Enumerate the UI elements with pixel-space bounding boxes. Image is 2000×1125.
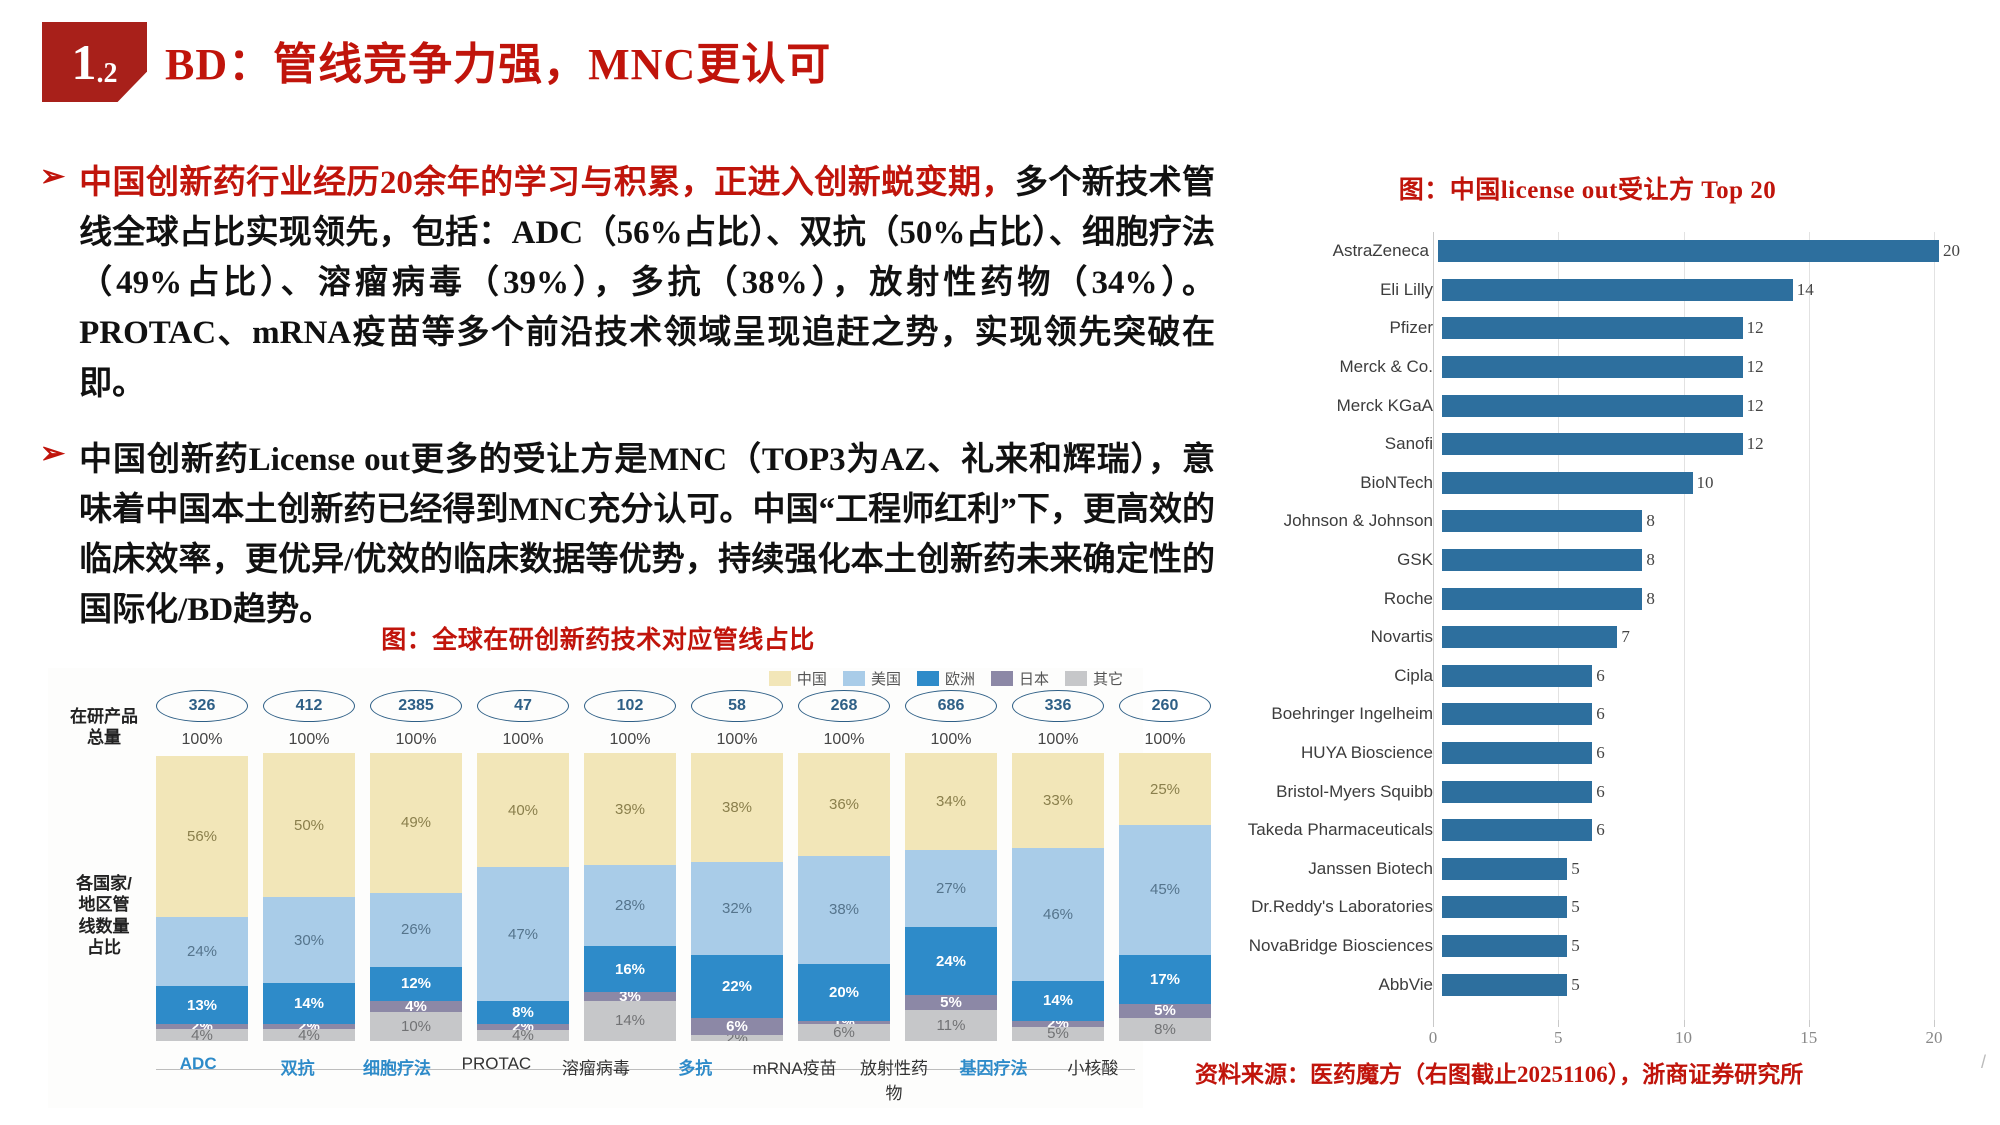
category-label: 多抗 xyxy=(653,1054,737,1104)
slide-header: 1 .2 BD：管线竞争力强，MNC更认可 xyxy=(0,22,2000,102)
legend-swatch xyxy=(769,671,791,686)
hbar-category-label: Eli Lilly xyxy=(1215,280,1442,300)
stack: 50%30%14%2%4% xyxy=(263,753,355,1041)
stack-segment: 5% xyxy=(1012,1027,1104,1041)
hbar-track: 12 xyxy=(1442,309,1960,348)
stack-segment: 4% xyxy=(370,1001,462,1012)
pipeline-total-badge: 260 xyxy=(1119,690,1211,722)
hbar-value-label: 7 xyxy=(1617,627,1630,647)
stack-segment: 25% xyxy=(1119,753,1211,825)
x-tick-label: 15 xyxy=(1800,1028,1817,1048)
hbar-row[interactable]: Eli Lilly14 xyxy=(1215,271,1960,310)
stack-total-percent: 100% xyxy=(610,731,651,749)
bullet-arrow-icon: ➢ xyxy=(40,158,65,195)
hbar-bar xyxy=(1442,819,1592,841)
category-label: 溶瘤病毒 xyxy=(554,1054,638,1104)
hbar-category-label: AbbVie xyxy=(1215,975,1442,995)
hbar-bar xyxy=(1442,974,1567,996)
hbar-value-label: 5 xyxy=(1567,897,1580,917)
hbar-bar xyxy=(1442,626,1617,648)
x-tick-label: 10 xyxy=(1675,1028,1692,1048)
legend-label: 欧洲 xyxy=(945,668,975,689)
stack-segment: 45% xyxy=(1119,825,1211,955)
stacked-bar-column: 47100%40%47%8%2%4% xyxy=(477,690,569,1108)
hbar-track: 5 xyxy=(1442,965,1960,1004)
x-tick-mark xyxy=(1558,1020,1559,1027)
hbar-bar xyxy=(1442,317,1743,339)
hbar-track: 12 xyxy=(1442,386,1960,425)
stack-segment: 6% xyxy=(691,1018,783,1035)
x-tick-label: 20 xyxy=(1926,1028,1943,1048)
stack-segment: 47% xyxy=(477,867,569,1001)
stack-segment: 8% xyxy=(1119,1018,1211,1041)
stack-segment: 17% xyxy=(1119,955,1211,1004)
x-tick-mark xyxy=(1934,1020,1935,1027)
legend-item: 美国 xyxy=(843,668,901,689)
hbar-row[interactable]: AstraZeneca20 xyxy=(1215,232,1960,271)
stack-segment: 32% xyxy=(691,862,783,954)
stack-segment: 14% xyxy=(1012,981,1104,1021)
stacked-bar-column: 412100%50%30%14%2%4% xyxy=(263,690,355,1108)
stack-total-percent: 100% xyxy=(289,731,330,749)
hbar-bar xyxy=(1442,395,1743,417)
stack-segment: 49% xyxy=(370,753,462,893)
hbar-row[interactable]: Boehringer Ingelheim6 xyxy=(1215,695,1960,734)
stack: 56%24%13%2%4% xyxy=(156,753,248,1041)
stack-total-percent: 100% xyxy=(717,731,758,749)
bullet-highlight-text: 中国创新药行业经历20余年的学习与积累，正进入创新蜕变期， xyxy=(79,165,1015,201)
stack-segment: 46% xyxy=(1012,848,1104,980)
stack-segment: 13% xyxy=(156,986,248,1023)
stack-segment: 30% xyxy=(263,897,355,983)
stack: 34%27%24%5%11% xyxy=(905,753,997,1041)
hbar-row[interactable]: Pfizer12 xyxy=(1215,309,1960,348)
stack-segment: 34% xyxy=(905,753,997,850)
hbar-row[interactable]: BioNTech10 xyxy=(1215,464,1960,503)
stacked-bar-column: 686100%34%27%24%5%11% xyxy=(905,690,997,1108)
stack-segment: 5% xyxy=(1119,1004,1211,1018)
bullet-body-text: 中国创新药License out更多的受让方是MNC（TOP3为AZ、礼来和辉瑞… xyxy=(79,442,1215,628)
y-axis-line xyxy=(1433,232,1434,1026)
section-number-sub: .2 xyxy=(97,60,118,102)
stack-total-percent: 100% xyxy=(824,731,865,749)
hbar-track: 6 xyxy=(1442,695,1960,734)
stack-segment: 22% xyxy=(691,955,783,1018)
section-number-main: 1 xyxy=(72,37,97,87)
hbar-value-label: 20 xyxy=(1939,241,1960,261)
hbar-track: 5 xyxy=(1442,888,1960,927)
hbar-chart-canvas: AstraZeneca20Eli Lilly14Pfizer12Merck & … xyxy=(1215,232,1960,1052)
stacked-bar-column: 58100%38%32%22%6%2% xyxy=(691,690,783,1108)
stack: 38%32%22%6%2% xyxy=(691,753,783,1041)
hbar-row[interactable]: Cipla6 xyxy=(1215,657,1960,696)
stack-segment: 4% xyxy=(477,1030,569,1041)
category-label: ADC xyxy=(156,1054,240,1104)
hbar-row[interactable]: Roche8 xyxy=(1215,579,1960,618)
hbar-bar xyxy=(1442,858,1567,880)
x-tick-mark xyxy=(1433,1020,1434,1027)
hbar-bar xyxy=(1442,935,1567,957)
stack-segment: 24% xyxy=(156,917,248,986)
hbar-category-label: Dr.Reddy's Laboratories xyxy=(1215,897,1442,917)
hbar-bar xyxy=(1442,588,1642,610)
legend-swatch xyxy=(843,671,865,686)
stacked-chart-category-labels: ADC双抗细胞疗法PROTAC溶瘤病毒多抗mRNA疫苗放射性药物基因疗法小核酸 xyxy=(156,1054,1135,1104)
page-title: BD：管线竞争力强，MNC更认可 xyxy=(165,28,831,92)
page-mark: / xyxy=(1981,1052,1986,1073)
hbar-value-label: 5 xyxy=(1567,859,1580,879)
x-tick-mark xyxy=(1809,1020,1810,1027)
stack-total-percent: 100% xyxy=(1145,731,1186,749)
category-label: PROTAC xyxy=(454,1054,538,1104)
hbar-value-label: 6 xyxy=(1592,782,1605,802)
stack-total-percent: 100% xyxy=(931,731,972,749)
stack-segment: 14% xyxy=(263,983,355,1023)
hbar-row[interactable]: GSK8 xyxy=(1215,541,1960,580)
stack-segment: 4% xyxy=(156,1029,248,1041)
hbar-chart-title: 图：中国license out受让方 Top 20 xyxy=(1215,170,1960,206)
hbar-track: 6 xyxy=(1442,772,1960,811)
hbar-row[interactable]: Merck KGaA12 xyxy=(1215,386,1960,425)
hbar-category-label: BioNTech xyxy=(1215,473,1442,493)
legend-label: 日本 xyxy=(1019,668,1049,689)
hbar-track: 8 xyxy=(1442,579,1960,618)
stack-segment: 24% xyxy=(905,927,997,995)
hbar-category-label: NovaBridge Biosciences xyxy=(1215,936,1442,956)
hbar-bar xyxy=(1442,703,1592,725)
legend-swatch xyxy=(1065,671,1087,686)
hbar-value-label: 6 xyxy=(1592,666,1605,686)
hbar-value-label: 12 xyxy=(1743,434,1764,454)
stacked-chart-canvas: 中国美国欧洲日本其它 在研产品总量 各国家/地区管线数量占比 326100%56… xyxy=(48,668,1143,1108)
hbar-value-label: 8 xyxy=(1642,550,1655,570)
category-label: 小核酸 xyxy=(1051,1054,1135,1104)
hbar-bar xyxy=(1442,472,1693,494)
category-label: 基因疗法 xyxy=(951,1054,1035,1104)
hbar-value-label: 12 xyxy=(1743,396,1764,416)
pipeline-total-badge: 326 xyxy=(156,690,248,722)
legend-label: 其它 xyxy=(1093,668,1123,689)
legend-swatch xyxy=(991,671,1013,686)
legend-item: 日本 xyxy=(991,668,1049,689)
hbar-track: 6 xyxy=(1442,734,1960,773)
stack-segment: 33% xyxy=(1012,753,1104,848)
bullet-paragraph: 中国创新药行业经历20余年的学习与积累，正进入创新蜕变期，多个新技术管线全球占比… xyxy=(79,158,1215,409)
stack-segment: 2% xyxy=(691,1035,783,1041)
stack-total-percent: 100% xyxy=(503,731,544,749)
hbar-value-label: 8 xyxy=(1642,511,1655,531)
stack-segment: 36% xyxy=(798,753,890,856)
stack-segment: 26% xyxy=(370,893,462,967)
pipeline-total-badge: 58 xyxy=(691,690,783,722)
hbar-category-label: Pfizer xyxy=(1215,318,1442,338)
horizontal-bar-figure: 图：中国license out受让方 Top 20 AstraZeneca20E… xyxy=(1215,170,1960,1052)
hbar-value-label: 6 xyxy=(1592,704,1605,724)
hbar-bar xyxy=(1442,510,1642,532)
hbar-row[interactable]: Bristol-Myers Squibb6 xyxy=(1215,772,1960,811)
x-tick-label: 0 xyxy=(1429,1028,1438,1048)
hbar-track: 5 xyxy=(1442,850,1960,889)
legend-item: 中国 xyxy=(769,668,827,689)
category-label: 双抗 xyxy=(255,1054,339,1104)
hbar-bar xyxy=(1442,433,1743,455)
stacked-chart-title: 图：全球在研创新药技术对应管线占比 xyxy=(48,620,1148,656)
hbar-track: 10 xyxy=(1442,464,1960,503)
hbar-row[interactable]: HUYA Bioscience6 xyxy=(1215,734,1960,773)
hbar-category-label: Sanofi xyxy=(1215,434,1442,454)
hbar-bar xyxy=(1442,781,1592,803)
stack: 25%45%17%5%8% xyxy=(1119,753,1211,1041)
stack-segment: 5% xyxy=(905,995,997,1009)
bullet-list: ➢ 中国创新药行业经历20余年的学习与积累，正进入创新蜕变期，多个新技术管线全球… xyxy=(40,158,1215,661)
hbar-category-label: Cipla xyxy=(1215,666,1442,686)
hbar-row[interactable]: Merck & Co.12 xyxy=(1215,348,1960,387)
bullet-paragraph: 中国创新药License out更多的受让方是MNC（TOP3为AZ、礼来和辉瑞… xyxy=(79,435,1215,636)
pipeline-total-badge: 336 xyxy=(1012,690,1104,722)
legend-item: 其它 xyxy=(1065,668,1123,689)
hbar-track: 20 xyxy=(1438,232,1960,271)
stacked-bar-figure: 图：全球在研创新药技术对应管线占比 中国美国欧洲日本其它 在研产品总量 各国家/… xyxy=(48,620,1148,1108)
pipeline-total-badge: 102 xyxy=(584,690,676,722)
hbar-category-label: Bristol-Myers Squibb xyxy=(1215,782,1442,802)
hbar-bar xyxy=(1442,742,1592,764)
hbar-bar xyxy=(1442,279,1793,301)
hbar-track: 8 xyxy=(1442,541,1960,580)
x-tick-mark xyxy=(1684,1020,1685,1027)
stacked-bar-column: 260100%25%45%17%5%8% xyxy=(1119,690,1211,1108)
hbar-row[interactable]: Janssen Biotech5 xyxy=(1215,850,1960,889)
hbar-bar xyxy=(1442,665,1592,687)
x-axis-ticks: 05101520 xyxy=(1433,1028,1960,1052)
hbar-value-label: 10 xyxy=(1693,473,1714,493)
pipeline-total-badge: 686 xyxy=(905,690,997,722)
legend-item: 欧洲 xyxy=(917,668,975,689)
stacked-bar-column: 2385100%49%26%12%4%10% xyxy=(370,690,462,1108)
hbar-bar xyxy=(1442,356,1743,378)
list-item: ➢ 中国创新药License out更多的受让方是MNC（TOP3为AZ、礼来和… xyxy=(40,435,1215,636)
hbar-bar xyxy=(1442,549,1642,571)
hbar-track: 12 xyxy=(1442,425,1960,464)
pipeline-total-badge: 268 xyxy=(798,690,890,722)
stack-segment: 28% xyxy=(584,865,676,946)
stacked-bar-column: 102100%39%28%16%3%14% xyxy=(584,690,676,1108)
stack-segment: 38% xyxy=(691,753,783,862)
hbar-value-label: 6 xyxy=(1592,743,1605,763)
stack: 36%38%20%1%6% xyxy=(798,753,890,1041)
stack-segment: 27% xyxy=(905,850,997,927)
stack-segment: 10% xyxy=(370,1012,462,1041)
stack-segment: 4% xyxy=(263,1029,355,1041)
hbar-value-label: 5 xyxy=(1567,975,1580,995)
source-note: 资料来源：医药魔方（右图截止20251106），浙商证券研究所 xyxy=(1195,1055,1803,1089)
hbar-row[interactable]: Johnson & Johnson8 xyxy=(1215,502,1960,541)
stacked-bar-columns: 326100%56%24%13%2%4%412100%50%30%14%2%4%… xyxy=(156,690,1135,1108)
hbar-category-label: Roche xyxy=(1215,589,1442,609)
bullet-arrow-icon: ➢ xyxy=(40,435,65,472)
stack-segment: 11% xyxy=(905,1010,997,1041)
hbar-value-label: 12 xyxy=(1743,318,1764,338)
stack-segment: 39% xyxy=(584,753,676,865)
legend-label: 美国 xyxy=(871,668,901,689)
hbar-track: 7 xyxy=(1442,618,1960,657)
hbar-value-label: 8 xyxy=(1642,589,1655,609)
legend-swatch xyxy=(917,671,939,686)
hbar-track: 6 xyxy=(1442,811,1960,850)
hbar-row[interactable]: Dr.Reddy's Laboratories5 xyxy=(1215,888,1960,927)
stack-total-percent: 100% xyxy=(396,731,437,749)
hbar-category-label: Novartis xyxy=(1215,627,1442,647)
stack-total-percent: 100% xyxy=(1038,731,1079,749)
stack-segment: 20% xyxy=(798,964,890,1021)
stack-segment: 3% xyxy=(584,992,676,1001)
hbar-category-label: HUYA Bioscience xyxy=(1215,743,1442,763)
hbar-category-label: Boehringer Ingelheim xyxy=(1215,704,1442,724)
hbar-track: 5 xyxy=(1442,927,1960,966)
x-tick-label: 5 xyxy=(1554,1028,1563,1048)
stack-segment: 8% xyxy=(477,1001,569,1024)
hbar-category-label: Merck KGaA xyxy=(1215,396,1442,416)
hbar-value-label: 14 xyxy=(1793,280,1814,300)
stack: 49%26%12%4%10% xyxy=(370,753,462,1041)
stack-segment: 16% xyxy=(584,946,676,992)
row-label-total: 在研产品总量 xyxy=(54,706,154,749)
hbar-row[interactable]: NovaBridge Biosciences5 xyxy=(1215,927,1960,966)
category-label: 细胞疗法 xyxy=(355,1054,439,1104)
stack-segment: 50% xyxy=(263,753,355,897)
hbar-category-label: GSK xyxy=(1215,550,1442,570)
hbar-track: 12 xyxy=(1442,348,1960,387)
stacked-chart-legend: 中国美国欧洲日本其它 xyxy=(769,668,1123,689)
stack: 33%46%14%2%5% xyxy=(1012,753,1104,1041)
stacked-bar-column: 268100%36%38%20%1%6% xyxy=(798,690,890,1108)
hbar-bar xyxy=(1442,896,1567,918)
hbar-bar xyxy=(1438,240,1939,262)
stack-segment: 56% xyxy=(156,756,248,917)
section-number-badge: 1 .2 xyxy=(42,22,147,102)
stack-total-percent: 100% xyxy=(182,731,223,749)
hbar-category-label: Johnson & Johnson xyxy=(1215,511,1442,531)
stack: 39%28%16%3%14% xyxy=(584,753,676,1041)
stack: 40%47%8%2%4% xyxy=(477,753,569,1041)
pipeline-total-badge: 47 xyxy=(477,690,569,722)
hbar-row[interactable]: Takeda Pharmaceuticals6 xyxy=(1215,811,1960,850)
hbar-row[interactable]: Novartis7 xyxy=(1215,618,1960,657)
stack-segment: 6% xyxy=(798,1024,890,1041)
legend-label: 中国 xyxy=(797,668,827,689)
stacked-bar-column: 336100%33%46%14%2%5% xyxy=(1012,690,1104,1108)
hbar-track: 8 xyxy=(1442,502,1960,541)
hbar-value-label: 6 xyxy=(1592,820,1605,840)
stack-segment: 40% xyxy=(477,753,569,867)
hbar-category-label: Takeda Pharmaceuticals xyxy=(1215,820,1442,840)
stacked-bar-column: 326100%56%24%13%2%4% xyxy=(156,690,248,1108)
hbar-row[interactable]: AbbVie5 xyxy=(1215,965,1960,1004)
hbar-value-label: 12 xyxy=(1743,357,1764,377)
stack-segment: 12% xyxy=(370,967,462,1001)
hbar-category-label: Janssen Biotech xyxy=(1215,859,1442,879)
hbar-category-label: Merck & Co. xyxy=(1215,357,1442,377)
category-label: mRNA疫苗 xyxy=(752,1054,836,1104)
pipeline-total-badge: 412 xyxy=(263,690,355,722)
hbar-value-label: 5 xyxy=(1567,936,1580,956)
pipeline-total-badge: 2385 xyxy=(370,690,462,722)
stack-segment: 38% xyxy=(798,856,890,964)
category-label: 放射性药物 xyxy=(852,1054,936,1104)
stack-segment: 14% xyxy=(584,1001,676,1041)
hbar-track: 6 xyxy=(1442,657,1960,696)
row-label-share: 各国家/地区管线数量占比 xyxy=(54,873,154,958)
list-item: ➢ 中国创新药行业经历20余年的学习与积累，正进入创新蜕变期，多个新技术管线全球… xyxy=(40,158,1215,409)
hbar-track: 14 xyxy=(1442,271,1960,310)
hbar-row[interactable]: Sanofi12 xyxy=(1215,425,1960,464)
hbar-category-label: AstraZeneca xyxy=(1215,241,1438,261)
